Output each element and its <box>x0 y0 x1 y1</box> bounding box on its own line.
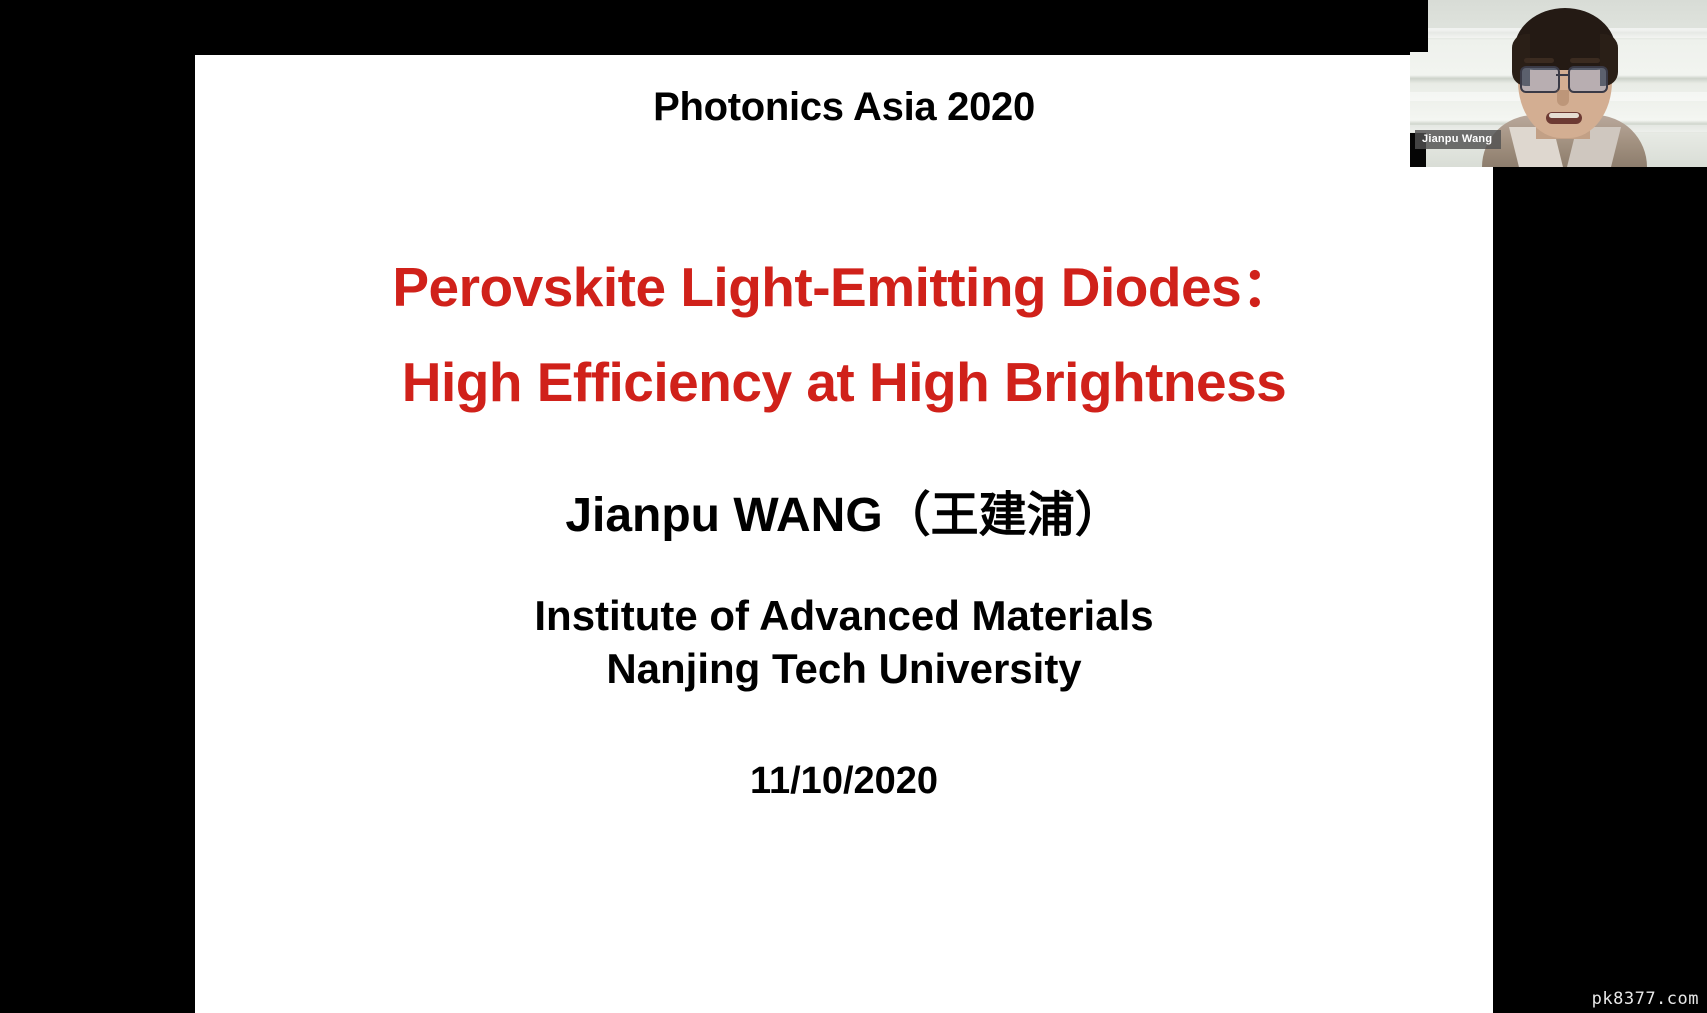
slide-date: 11/10/2020 <box>195 760 1493 803</box>
presentation-slide: Photonics Asia 2020 Perovskite Light-Emi… <box>195 55 1493 1013</box>
speaker-nose <box>1557 90 1569 106</box>
speaker-teeth <box>1549 113 1579 118</box>
slide-presenter-name: Jianpu WANG（王建浦） <box>195 475 1493 545</box>
speaker-glasses-bridge <box>1556 74 1568 76</box>
slide-affiliation-line-1: Institute of Advanced Materials <box>195 590 1493 643</box>
slide-title-line-2: High Efficiency at High Brightness <box>195 335 1493 430</box>
slide-main-title: Perovskite Light-Emitting Diodes： High E… <box>195 240 1493 429</box>
speaker-video-tile[interactable]: Jianpu Wang <box>1410 0 1707 167</box>
participant-name-badge: Jianpu Wang <box>1415 130 1501 149</box>
slide-content: Photonics Asia 2020 Perovskite Light-Emi… <box>195 55 1493 1013</box>
slide-affiliation: Institute of Advanced Materials Nanjing … <box>195 590 1493 695</box>
speaker-eyebrow-right <box>1570 58 1600 63</box>
slide-title-line-1: Perovskite Light-Emitting Diodes： <box>195 240 1493 335</box>
speaker-eyebrow-left <box>1524 58 1554 63</box>
watermark-text: pk8377.com <box>1592 989 1699 1009</box>
slide-event-title: Photonics Asia 2020 <box>195 85 1493 130</box>
speaker-glasses-left-lens <box>1520 66 1560 93</box>
screen-share-stage: Photonics Asia 2020 Perovskite Light-Emi… <box>0 0 1707 1013</box>
slide-affiliation-line-2: Nanjing Tech University <box>195 643 1493 696</box>
speaker-glasses-right-lens <box>1568 66 1608 93</box>
